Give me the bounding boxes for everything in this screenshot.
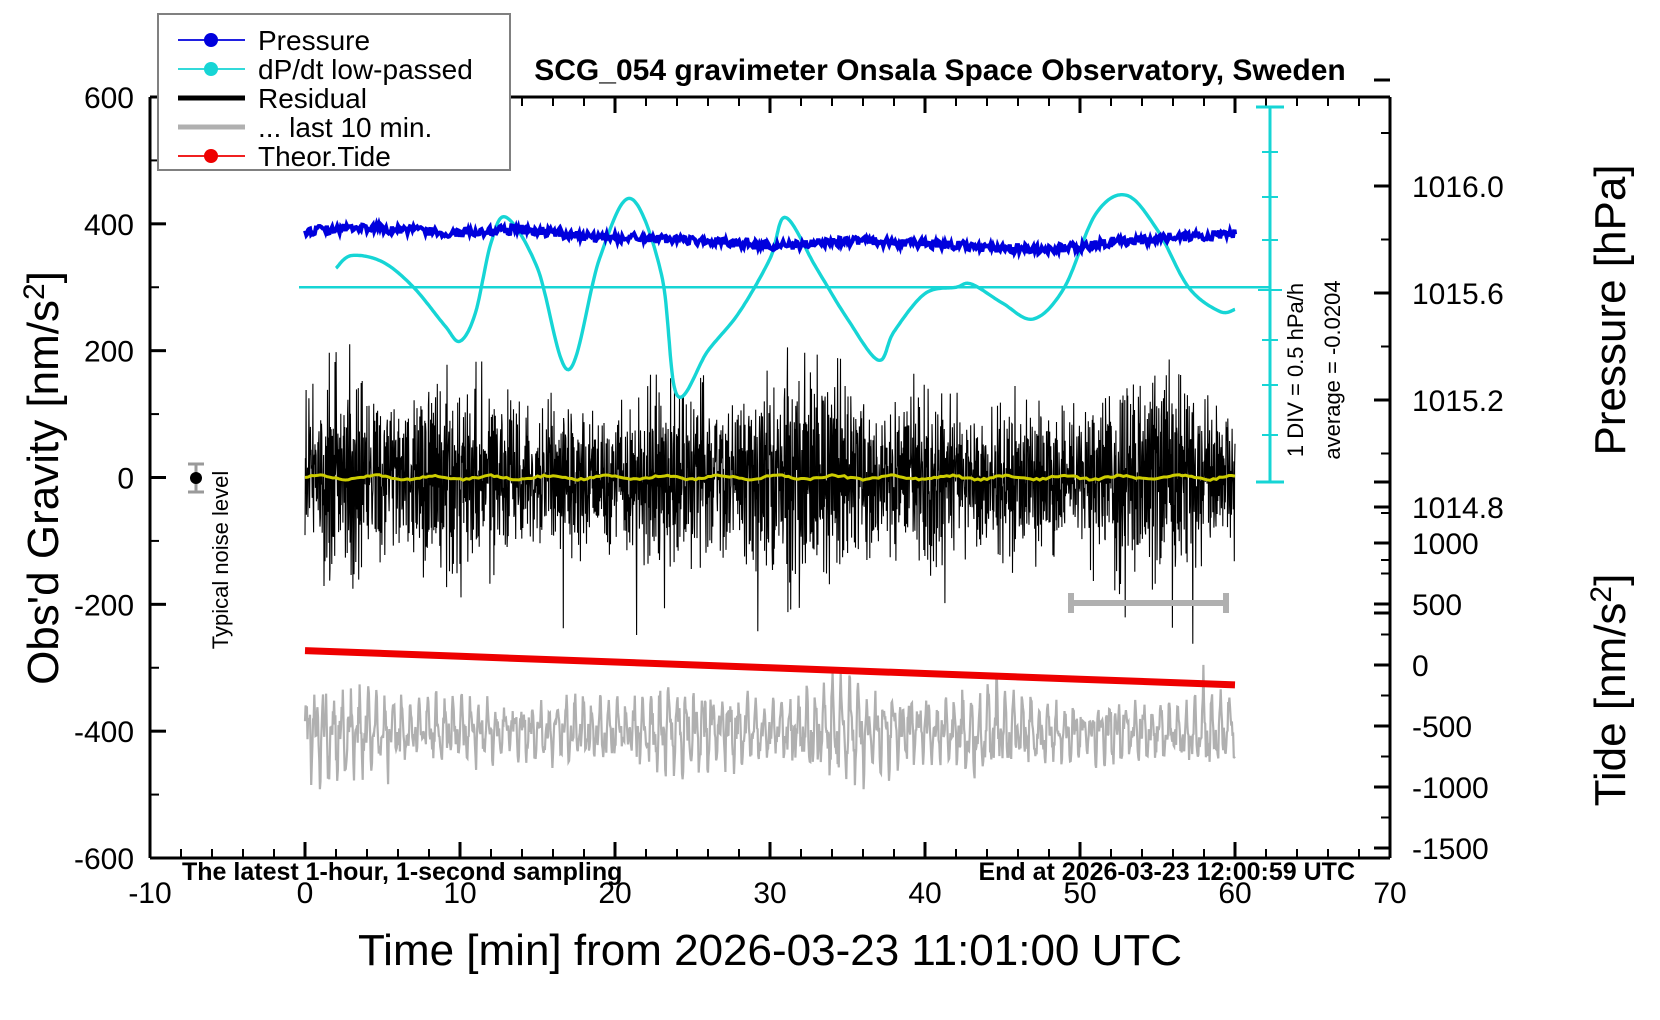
y-left-tick-label: -600	[74, 843, 134, 876]
y-axis-tide-title: Tide [nm/s2]	[1585, 574, 1635, 807]
pressure-tick-label: 1014.8	[1412, 492, 1504, 525]
tide-tick-label: 500	[1412, 589, 1462, 622]
gravimeter-timeseries-chart: 6004002000-200-400-600 1016.01015.61015.…	[0, 0, 1660, 1020]
y-axis-left-title: Obs'd Gravity [nm/s2]	[18, 271, 68, 685]
legend: PressuredP/dt low-passedResidual... last…	[158, 14, 510, 172]
y-left-tick-label: 0	[117, 463, 134, 496]
footer-right-annotation: End at 2026-03-23 12:00:59 UTC	[978, 858, 1355, 886]
legend-marker-dot-0	[204, 33, 218, 47]
pressure-tick-label: 1015.2	[1412, 385, 1504, 418]
legend-label-3: ... last 10 min.	[258, 112, 432, 143]
legend-marker-dot-4	[204, 149, 218, 163]
plot-title: SCG_054 gravimeter Onsala Space Observat…	[534, 54, 1346, 87]
pressure-div-scale-label: 1 DIV = 0.5 hPa/h	[1283, 283, 1308, 457]
x-tick-label: -10	[128, 877, 171, 910]
footer-left-annotation: The latest 1-hour, 1-second sampling	[182, 858, 622, 886]
x-tick-label: 40	[908, 877, 941, 910]
legend-label-4: Theor.Tide	[258, 141, 391, 172]
x-tick-label: 70	[1373, 877, 1406, 910]
legend-label-2: Residual	[258, 83, 367, 114]
pressure-tick-label: 1015.6	[1412, 278, 1504, 311]
pressure-average-label: average = -0.0204	[1320, 280, 1345, 459]
y-left-tick-label: 400	[84, 209, 134, 242]
tide-tick-label: 0	[1412, 650, 1429, 683]
x-axis-title: Time [min] from 2026-03-23 11:01:00 UTC	[358, 926, 1182, 975]
tide-tick-label: -500	[1412, 711, 1472, 744]
y-left-tick-label: -400	[74, 716, 134, 749]
legend-label-0: Pressure	[258, 25, 370, 56]
y-left-tick-label: 200	[84, 336, 134, 369]
typical-noise-level-label: Typical noise level	[208, 471, 233, 650]
pressure-tick-label: 1016.0	[1412, 171, 1504, 204]
legend-label-1: dP/dt low-passed	[258, 54, 473, 85]
tide-tick-label: -1500	[1412, 833, 1489, 866]
tide-tick-label: -1000	[1412, 772, 1489, 805]
y-left-tick-label: -200	[74, 589, 134, 622]
gravimeter-plot-page: 6004002000-200-400-600 1016.01015.61015.…	[0, 0, 1660, 1020]
tide-tick-label: 1000	[1412, 528, 1479, 561]
y-left-tick-label: 600	[84, 82, 134, 115]
x-tick-label: 30	[753, 877, 786, 910]
legend-marker-dot-1	[204, 62, 218, 76]
y-axis-pressure-title: Pressure [hPa]	[1586, 164, 1635, 455]
